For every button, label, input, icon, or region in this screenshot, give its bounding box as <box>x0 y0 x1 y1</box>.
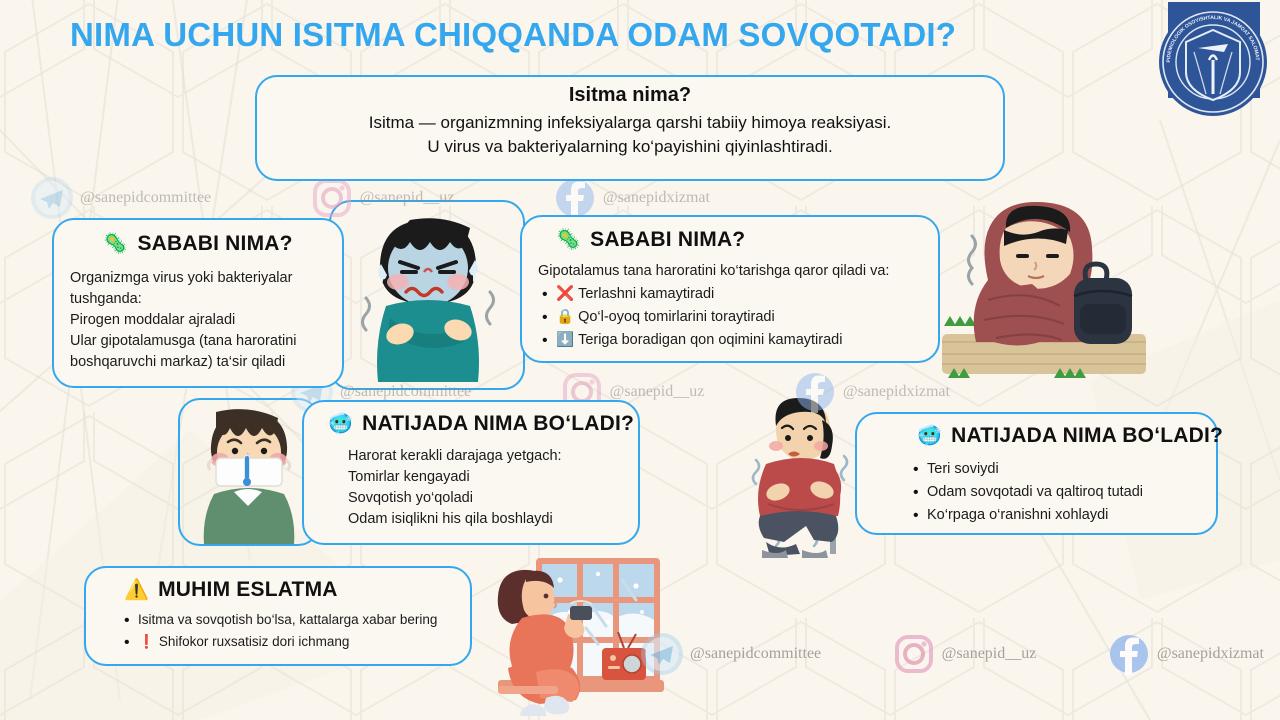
list-item: ❌Terlashni kamaytiradi <box>538 284 922 305</box>
watermark-facebook: @sanepidxizmat <box>553 176 710 220</box>
warning-icon: ⚠️ <box>124 580 149 600</box>
microbe-icon: 🦠 <box>556 230 581 250</box>
important-note-card: ⚠️ MUHIM ESLATMA Isitma va sovqotish bo‘… <box>84 566 472 666</box>
result-left-heading: 🥶 NATIJADA NIMA BO‘LADI? <box>320 412 622 436</box>
cross-mark-icon: ❌ <box>556 286 574 302</box>
list-item: Isitma va sovqotish bo‘lsa, kattalarga x… <box>120 610 454 630</box>
watermark-handle: @sanepidcommittee <box>340 383 471 401</box>
cause-left-card: 🦠 SABABI NIMA? Organizmga virus yoki bak… <box>52 218 344 388</box>
note-list: Isitma va sovqotish bo‘lsa, kattalarga x… <box>102 610 454 651</box>
list-item: Ko‘rpaga o‘ranishni xohlaydi <box>909 505 1200 526</box>
telegram-icon <box>30 176 74 220</box>
result-left-line-1: Harorat kerakli darajaga yetgach: <box>320 446 622 467</box>
down-arrow-icon: ⬇️ <box>556 332 574 348</box>
list-item: Odam sovqotadi va qaltiroq tutadi <box>909 482 1200 503</box>
microbe-icon: 🦠 <box>103 234 128 254</box>
cold-face-icon: 🥶 <box>328 414 353 434</box>
result-right-heading-text: NATIJADA NIMA BO‘LADI? <box>951 424 1223 448</box>
watermark-handle: @sanepid__uz <box>610 383 705 401</box>
list-item: Teri soviydi <box>909 459 1200 480</box>
shivering-woman-on-chair-illustration <box>726 392 876 558</box>
watermark-telegram: @sanepidcommittee <box>640 632 821 676</box>
watermark-row-top: @sanepidcommittee @sanepid__uz @sanepidx… <box>30 176 710 220</box>
cause-left-heading: 🦠 SABABI NIMA? <box>70 232 326 256</box>
watermark-handle: @sanepidxizmat <box>603 189 710 207</box>
watermark-handle: @sanepid__uz <box>360 189 455 207</box>
cause-right-heading: 🦠 SABABI NIMA? <box>538 228 922 252</box>
masked-boy-illustration <box>186 404 312 544</box>
result-left-card: 🥶 NATIJADA NIMA BO‘LADI? Harorat kerakli… <box>302 400 640 545</box>
result-left-line-2: Tomirlar kengayadi <box>320 467 622 488</box>
watermark-instagram: @sanepid__uz <box>310 176 455 220</box>
watermark-telegram: @sanepidcommittee <box>30 176 211 220</box>
list-item: 🔒Qo‘l-oyoq tomirlarini toraytiradi <box>538 307 922 328</box>
watermark-facebook: @sanepidxizmat <box>1107 632 1264 676</box>
list-item: ❗Shifokor ruxsatisiz dori ichmang <box>120 632 454 652</box>
watermark-handle: @sanepidcommittee <box>80 189 211 207</box>
watermark-handle: @sanepidxizmat <box>1157 645 1264 663</box>
intro-line-1: Isitma — organizmning infeksiyalarga qar… <box>271 111 989 135</box>
list-item-text: Terlashni kamaytiradi <box>578 286 714 302</box>
cause-right-lead: Gipotalamus tana haroratini ko‘tarishga … <box>538 261 922 282</box>
facebook-icon <box>1107 632 1151 676</box>
intro-card: Isitma nima? Isitma — organizmning infek… <box>255 75 1005 181</box>
cause-left-line-2: tushganda: <box>70 289 326 310</box>
sanitary-epidemiological-committee-emblem: SANITARIYA-EPIDEMIOLOGIK OSOYISHTALIK VA… <box>1154 2 1272 120</box>
result-left-heading-text: NATIJADA NIMA BO‘LADI? <box>362 412 634 436</box>
cause-left-line-4: Ular gipotalamusga (tana haroratini <box>70 331 326 352</box>
watermark-handle: @sanepid__uz <box>942 645 1037 663</box>
telegram-icon <box>640 632 684 676</box>
cause-right-heading-text: SABABI NIMA? <box>590 228 745 252</box>
exclamation-icon: ❗ <box>138 634 155 649</box>
instagram-icon <box>892 632 936 676</box>
lock-icon: 🔒 <box>556 309 574 325</box>
intro-line-2: U virus va bakteriyalarning ko‘payishini… <box>271 135 989 159</box>
list-item-text: Shifokor ruxsatisiz dori ichmang <box>159 634 350 649</box>
cause-left-line-5: boshqaruvchi markaz) ta‘sir qiladi <box>70 352 326 373</box>
note-heading: ⚠️ MUHIM ESLATMA <box>102 578 454 602</box>
list-item-text: Qo‘l-oyoq tomirlarini toraytiradi <box>578 309 775 325</box>
intro-title: Isitma nima? <box>271 84 989 107</box>
watermark-instagram: @sanepid__uz <box>892 632 1037 676</box>
woman-at-window-illustration <box>472 552 668 718</box>
watermark-row-bottom: @sanepidcommittee @sanepid__uz @sanepidx… <box>640 632 1264 676</box>
note-heading-text: MUHIM ESLATMA <box>158 578 338 602</box>
list-item-text: Isitma va sovqotish bo‘lsa, kattalarga x… <box>138 612 437 627</box>
watermark-handle: @sanepidxizmat <box>843 383 950 401</box>
cause-right-card: 🦠 SABABI NIMA? Gipotalamus tana harorati… <box>520 215 940 363</box>
result-right-list: Teri soviydi Odam sovqotadi va qaltiroq … <box>873 459 1200 526</box>
cause-left-heading-text: SABABI NIMA? <box>137 232 292 256</box>
watermark-handle: @sanepidcommittee <box>690 645 821 663</box>
cold-face-icon: 🥶 <box>917 426 942 446</box>
list-item-text: Teriga boradigan qon oqimini kamaytiradi <box>578 332 842 348</box>
infographic-poster: NIMA UCHUN ISITMA CHIQQANDA ODAM SOVQOTA… <box>0 0 1280 720</box>
watermark-facebook: @sanepidxizmat <box>793 370 950 414</box>
cause-right-list: ❌Terlashni kamaytiradi 🔒Qo‘l-oyoq tomirl… <box>538 284 922 351</box>
cause-left-line-1: Organizmga virus yoki bakteriyalar <box>70 268 326 289</box>
cause-left-line-3: Pirogen moddalar ajraladi <box>70 310 326 331</box>
result-right-heading: 🥶 NATIJADA NIMA BO‘LADI? <box>873 424 1200 448</box>
result-left-line-3: Sovqotish yo‘qoladi <box>320 488 622 509</box>
blanket-wrapped-person-illustration <box>936 192 1152 390</box>
list-item: ⬇️Teriga boradigan qon oqimini kamaytira… <box>538 330 922 351</box>
facebook-icon <box>553 176 597 220</box>
facebook-icon <box>793 370 837 414</box>
page-title: NIMA UCHUN ISITMA CHIQQANDA ODAM SOVQOTA… <box>70 16 1110 54</box>
result-left-line-4: Odam isiqlikni his qila boshlaydi <box>320 509 622 530</box>
instagram-icon <box>310 176 354 220</box>
shivering-boy-illustration <box>338 206 518 386</box>
result-right-card: 🥶 NATIJADA NIMA BO‘LADI? Teri soviydi Od… <box>855 412 1218 535</box>
